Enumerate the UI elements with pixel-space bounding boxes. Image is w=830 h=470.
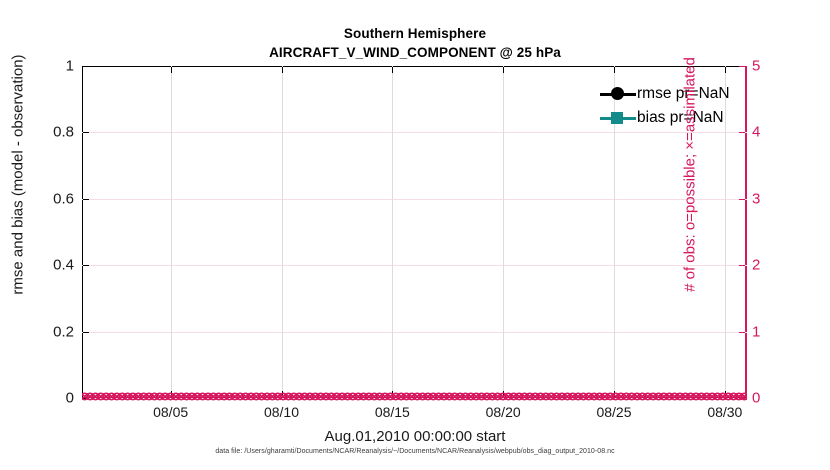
plot-area: rmse pr=NaNbias pr=NaN <box>82 66 747 398</box>
legend-marker <box>611 87 624 100</box>
y-axis-right-tick <box>739 199 745 200</box>
filled-square-icon <box>600 109 636 127</box>
y-axis-left-tick <box>83 132 89 133</box>
x-axis-tick-label: 08/20 <box>463 404 543 420</box>
y-axis-right-tick <box>739 265 745 266</box>
y-axis-left-title: rmse and bias (model - observation) <box>10 5 27 345</box>
horizontal-gridline <box>82 332 747 333</box>
x-axis-tick-label: 08/15 <box>352 404 432 420</box>
vertical-gridline <box>282 66 283 398</box>
y-axis-left-tick <box>83 332 89 333</box>
x-axis-tick-top <box>503 67 504 73</box>
y-axis-right-tick <box>739 132 745 133</box>
y-axis-right-tick-label: 2 <box>752 257 792 274</box>
x-axis-tick-top <box>614 67 615 73</box>
y-axis-left-tick <box>83 265 89 266</box>
vertical-gridline <box>503 66 504 398</box>
x-axis-tick-top <box>725 67 726 73</box>
data-file-footer: data file: /Users/gharamti/Documents/NCA… <box>0 448 830 455</box>
y-axis-right-title: # of obs: o=possible; ×=assimilated <box>682 5 699 345</box>
horizontal-gridline <box>82 265 747 266</box>
x-axis-title: Aug.01,2010 00:00:00 start <box>0 428 830 445</box>
y-axis-left-tick <box>83 66 89 67</box>
x-axis-tick-label: 08/10 <box>242 404 322 420</box>
filled-circle-icon <box>600 85 636 103</box>
horizontal-gridline <box>82 132 747 133</box>
vertical-gridline <box>171 66 172 398</box>
y-axis-right-tick-label: 5 <box>752 58 792 75</box>
y-axis-right-tick-label: 3 <box>752 190 792 207</box>
x-axis-tick-top <box>171 67 172 73</box>
legend: rmse pr=NaNbias pr=NaN <box>600 84 730 128</box>
legend-entry[interactable]: rmse pr=NaN <box>600 84 730 104</box>
axis-spine-top <box>82 66 747 67</box>
y-axis-right-tick-label: 1 <box>752 323 792 340</box>
y-axis-left-tick <box>83 199 89 200</box>
x-axis-tick-top <box>282 67 283 73</box>
observation-marker-band <box>82 389 747 404</box>
x-axis-tick-top <box>392 67 393 73</box>
vertical-gridline <box>392 66 393 398</box>
y-axis-right-tick <box>739 66 745 67</box>
axis-spine-left <box>82 66 83 398</box>
y-axis-right-tick <box>739 332 745 333</box>
x-axis-tick-label: 08/05 <box>131 404 211 420</box>
x-axis-tick-label: 08/25 <box>574 404 654 420</box>
chart-title-block: Southern Hemisphere AIRCRAFT_V_WIND_COMP… <box>0 24 830 62</box>
chart-title-line-1: Southern Hemisphere <box>0 24 830 43</box>
legend-marker <box>611 112 623 124</box>
legend-entry[interactable]: bias pr=NaN <box>600 108 730 128</box>
x-axis-tick-label: 08/30 <box>685 404 765 420</box>
horizontal-gridline <box>82 199 747 200</box>
axis-spine-right <box>745 66 747 398</box>
y-axis-left-tick-label: 0 <box>4 390 74 407</box>
legend-entry-label: bias pr=NaN <box>637 109 724 127</box>
y-axis-right-tick-label: 4 <box>752 124 792 141</box>
chart-title-line-2: AIRCRAFT_V_WIND_COMPONENT @ 25 hPa <box>0 43 830 62</box>
observation-markers-svg <box>82 389 747 404</box>
